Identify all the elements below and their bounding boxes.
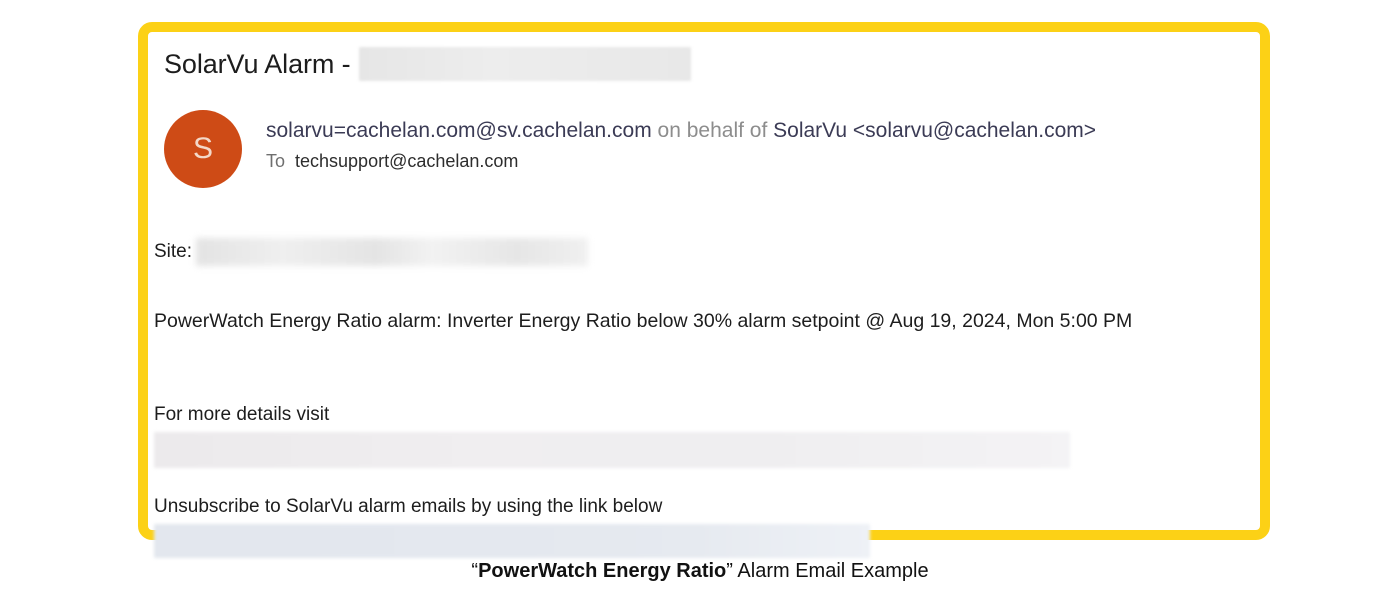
sender-from-line: solarvu=cachelan.com@sv.cachelan.com on … xyxy=(266,118,1096,144)
site-row: Site: xyxy=(154,238,588,266)
recipient-line: Totechsupport@cachelan.com xyxy=(266,150,1096,172)
alarm-email-card: SolarVu Alarm - S solarvu=cachelan.com@s… xyxy=(138,22,1270,540)
caption-bold-text: PowerWatch Energy Ratio xyxy=(478,560,726,582)
to-address[interactable]: techsupport@cachelan.com xyxy=(295,151,518,171)
details-link-redacted-block[interactable] xyxy=(154,432,1070,468)
avatar: S xyxy=(164,110,242,188)
avatar-initial: S xyxy=(193,134,213,164)
site-label: Site: xyxy=(154,241,192,263)
alarm-message-text: PowerWatch Energy Ratio alarm: Inverter … xyxy=(154,310,1132,333)
unsubscribe-link-redacted-block[interactable] xyxy=(154,524,870,558)
email-body: Site: PowerWatch Energy Ratio alarm: Inv… xyxy=(154,222,1252,528)
page-root: SolarVu Alarm - S solarvu=cachelan.com@s… xyxy=(0,0,1400,610)
site-value-redacted-block xyxy=(196,238,588,266)
sender-display-address[interactable]: <solarvu@cachelan.com> xyxy=(853,119,1096,142)
caption-quote-close: ” xyxy=(726,560,733,582)
email-subject-row: SolarVu Alarm - xyxy=(164,42,1250,86)
sender-display-name[interactable]: SolarVu xyxy=(773,119,847,142)
sender-block: S solarvu=cachelan.com@sv.cachelan.com o… xyxy=(164,110,1248,192)
sender-on-behalf-of-label: on behalf of xyxy=(652,119,773,142)
email-inner: SolarVu Alarm - S solarvu=cachelan.com@s… xyxy=(148,32,1260,530)
details-label: For more details visit xyxy=(154,404,329,426)
unsubscribe-label: Unsubscribe to SolarVu alarm emails by u… xyxy=(154,496,662,518)
sender-lines: solarvu=cachelan.com@sv.cachelan.com on … xyxy=(266,118,1096,172)
subject-redacted-block xyxy=(359,47,691,81)
figure-caption: “PowerWatch Energy Ratio” Alarm Email Ex… xyxy=(0,560,1400,583)
email-subject-text: SolarVu Alarm - xyxy=(164,49,351,80)
sender-address[interactable]: solarvu=cachelan.com@sv.cachelan.com xyxy=(266,119,652,142)
to-label: To xyxy=(266,151,285,171)
caption-rest: Alarm Email Example xyxy=(733,560,929,582)
